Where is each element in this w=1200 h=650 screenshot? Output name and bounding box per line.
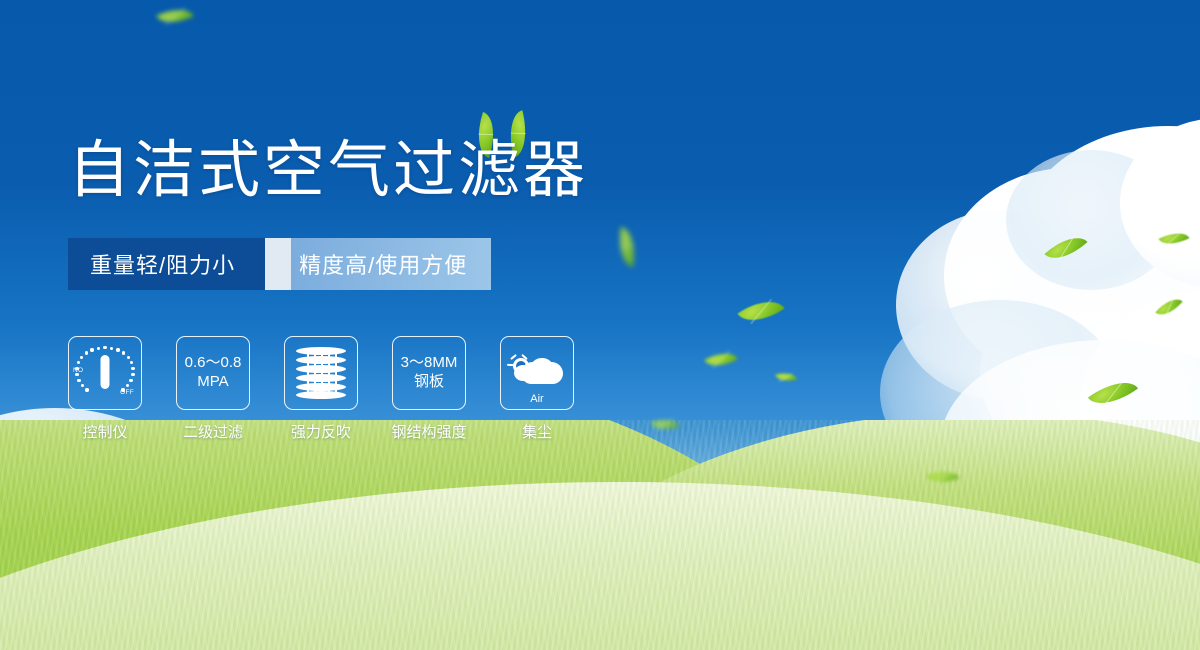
feature-item-blowback[interactable]: 强力反吹 [284, 336, 358, 442]
feature-item-pressure[interactable]: 0.6～0.8 MPA 二级过滤 [176, 336, 250, 442]
subtitle-divider [265, 238, 291, 290]
subtitle-right: 精度高/使用方便 [291, 238, 491, 290]
control-dial-icon: NO OFF [68, 336, 142, 410]
grass-field [0, 420, 1200, 650]
pressure-unit: MPA [185, 373, 242, 392]
feature-label-steel: 钢结构强度 [392, 421, 467, 442]
dial-pointer-icon [101, 355, 110, 389]
feature-label-dust: 集尘 [522, 421, 552, 442]
filter-stack-icon [284, 336, 358, 410]
steel-material: 钢板 [401, 373, 458, 392]
dial-graphic: NO OFF [77, 345, 133, 401]
feature-list: NO OFF [68, 336, 574, 442]
pressure-text-icon: 0.6～0.8 MPA [176, 336, 250, 410]
subtitle-left: 重量轻/阻力小 [68, 238, 265, 290]
feature-label-pressure: 二级过滤 [183, 421, 243, 442]
steel-plate-text-icon: 3～8MM 钢板 [392, 336, 466, 410]
air-label: Air [509, 393, 565, 405]
feature-label-blowback: 强力反吹 [291, 421, 351, 442]
cloud-graphic: Air [509, 352, 565, 394]
feature-item-control[interactable]: NO OFF [68, 336, 142, 442]
feature-label-control: 控制仪 [82, 421, 127, 442]
subtitle-band: 重量轻/阻力小 精度高/使用方便 [68, 238, 491, 290]
steel-thickness: 3～8MM [401, 354, 458, 373]
stack-graphic [296, 347, 346, 399]
cloud-air-icon: Air [500, 336, 574, 410]
feature-item-steel[interactable]: 3～8MM 钢板 钢结构强度 [392, 336, 466, 442]
promo-banner: 自洁式空气过滤器 重量轻/阻力小 精度高/使用方便 NO OFF [0, 0, 1200, 650]
subtitle-right-text: 精度高/使用方便 [299, 248, 467, 280]
page-title: 自洁式空气过滤器 [68, 140, 588, 202]
grass-texture [0, 420, 1200, 650]
feature-item-dust[interactable]: Air 集尘 [500, 336, 574, 442]
pressure-value: 0.6～0.8 [185, 354, 242, 373]
